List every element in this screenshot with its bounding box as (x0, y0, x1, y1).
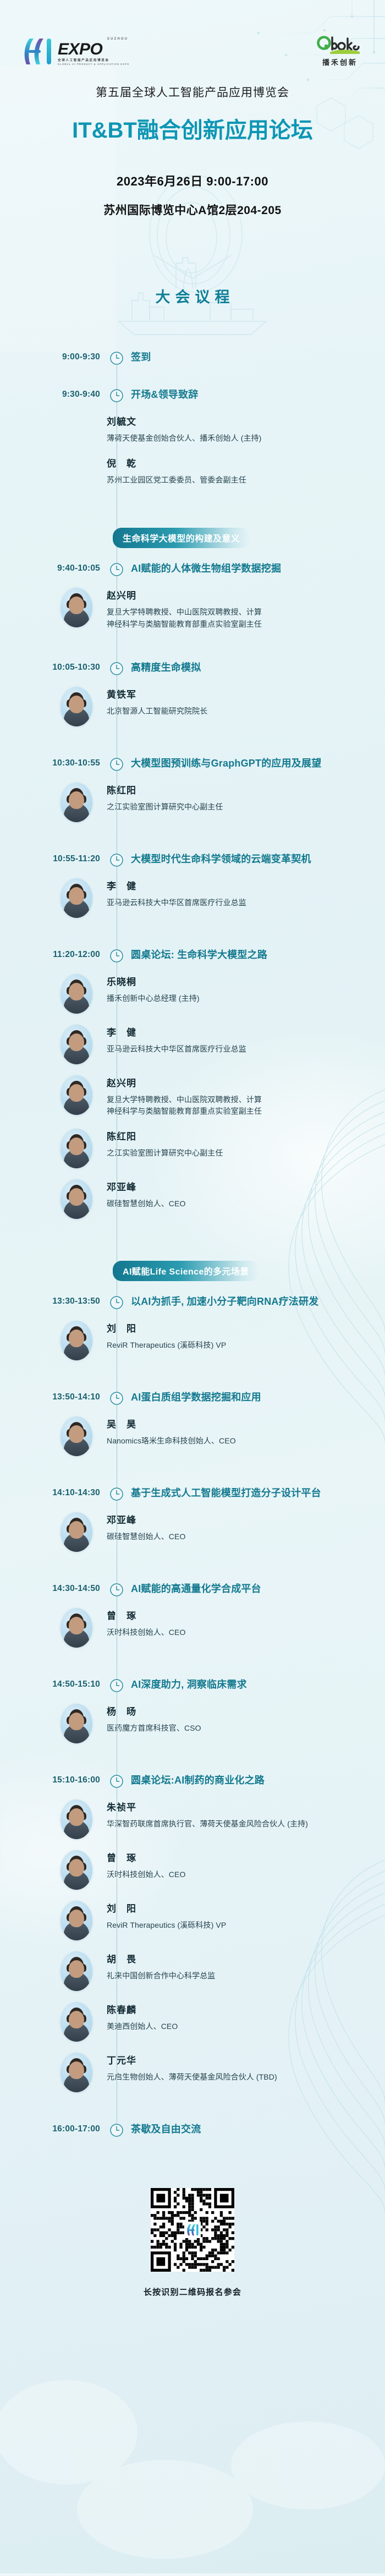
session-title: 以AI为抓手, 加速小分子靶向RNA疗法研发 (129, 1295, 385, 1308)
speaker-entry: 陈红阳之江实验室图计算研究中心副主任 (0, 1128, 385, 1168)
row-spacer (0, 726, 385, 743)
session-time: 16:00-17:00 (0, 2123, 105, 2134)
clock-icon-cell (105, 562, 129, 577)
speaker-entry: 刘 阳ReviR Therapeutics (溪砾科技) VP (0, 1900, 385, 1940)
speaker-photo-cell (0, 587, 105, 627)
session-title: 高精度生命模拟 (129, 661, 385, 674)
avatar (61, 1901, 92, 1940)
poster-header: SUZHOU EXPO 全球人工智能产品应用博览会 GLOBAL AI PROD… (0, 0, 385, 218)
speaker-title: 碳硅智慧创始人、CEO (107, 1531, 373, 1543)
speaker-photo-cell (0, 1128, 105, 1168)
speaker-title: 美迪西创始人、CEO (107, 2021, 373, 2033)
speaker-title: ReviR Therapeutics (溪砾科技) VP (107, 1339, 373, 1352)
speaker-name: 倪 乾 (107, 456, 373, 469)
speaker-entry: 赵兴明复旦大学特聘教授、中山医院双聘教授、计算 神经科学与类脑智能教育部重点实验… (0, 587, 385, 630)
speaker-title: ReviR Therapeutics (溪砾科技) VP (107, 1919, 373, 1932)
row-spacer (0, 822, 385, 839)
speaker-body: 邓亚峰碳硅智慧创始人、CEO (105, 1178, 385, 1210)
agenda-session-row: 15:10-16:00圆桌论坛:AI制药的商业化之路 (0, 1774, 385, 1789)
row-spacer (0, 1360, 385, 1377)
clock-icon-cell (105, 351, 129, 365)
event-venue: 苏州国际博览中心A馆2层204-205 (0, 201, 385, 218)
speaker-photo-cell (0, 413, 105, 414)
clock-icon-cell (105, 1678, 129, 1693)
row-spacer (0, 1648, 385, 1664)
session-title: 开场&领导致辞 (129, 389, 385, 401)
speaker-name: 乐晓桐 (107, 974, 373, 988)
avatar (61, 1704, 92, 1743)
qr-caption: 长按识别二维码报名参会 (0, 2286, 385, 2298)
speaker-photo-cell (0, 1511, 105, 1552)
expo-name: 第五届全球人工智能产品应用博览会 (0, 84, 385, 100)
clock-icon-cell (105, 1583, 129, 1597)
session-time: 9:40-10:05 (0, 562, 105, 573)
speaker-body: 邓亚峰碳硅智慧创始人、CEO (105, 1511, 385, 1543)
speaker-title: 之江实验室图计算研究中心副主任 (107, 801, 373, 813)
session-title: AI深度助力, 洞察临床需求 (129, 1678, 385, 1691)
session-time: 9:30-9:40 (0, 389, 105, 400)
speaker-photo-cell (0, 1074, 105, 1115)
speaker-entry: 刘毓文薄荷天使基金创始合伙人、播禾创始人 (主持) (0, 413, 385, 445)
qdock-mark-icon (317, 35, 363, 54)
speaker-name: 朱祯平 (107, 1800, 373, 1813)
agenda-section-header: AI赋能Life Science的多元场景 (0, 1261, 385, 1281)
agenda-session-row: 14:10-14:30基于生成式人工智能模型打造分子设计平台 (0, 1487, 385, 1501)
speaker-title: 播禾创新中心总经理 (主持) (107, 993, 373, 1005)
speaker-photo-cell (0, 1900, 105, 1940)
row-spacer (0, 918, 385, 934)
speaker-title: 沃时科技创始人、CEO (107, 1627, 373, 1639)
speaker-entry: 黄铁军北京智源人工智能研究院院长 (0, 686, 385, 726)
speaker-name: 邓亚峰 (107, 1179, 373, 1193)
avatar (61, 687, 92, 726)
logo-expo-text: EXPO (58, 41, 129, 58)
session-time: 15:10-16:00 (0, 1774, 105, 1785)
qr-code[interactable] (151, 2188, 234, 2272)
speaker-title: 元启生物创始人、薄荷天使基金风险合伙人 (TBD) (107, 2071, 373, 2083)
speaker-title: 复旦大学特聘教授、中山医院双聘教授、计算 神经科学与类脑智能教育部重点实验室副主… (107, 606, 373, 630)
speaker-entry: 赵兴明复旦大学特聘教授、中山医院双聘教授、计算 神经科学与类脑智能教育部重点实验… (0, 1074, 385, 1118)
speaker-name: 陈红阳 (107, 783, 373, 796)
session-title: AI赋能的人体微生物组学数据挖掘 (129, 562, 385, 575)
agenda-session-row: 10:55-11:20大模型时代生命科学领域的云端变革契机 (0, 853, 385, 867)
speaker-photo-cell (0, 1320, 105, 1360)
session-time: 14:10-14:30 (0, 1487, 105, 1498)
speaker-body: 赵兴明复旦大学特聘教授、中山医院双聘教授、计算 神经科学与类脑智能教育部重点实验… (105, 587, 385, 630)
session-title: 大模型图预训练与GraphGPT的应用及展望 (129, 757, 385, 770)
speaker-name: 邓亚峰 (107, 1512, 373, 1526)
logo-row: SUZHOU EXPO 全球人工智能产品应用博览会 GLOBAL AI PROD… (0, 35, 385, 67)
row-spacer (0, 486, 385, 502)
avatar (61, 1025, 92, 1064)
speaker-body: 陈红阳之江实验室图计算研究中心副主任 (105, 781, 385, 813)
agenda-session-row: 9:30-9:40开场&领导致辞 (0, 389, 385, 403)
agenda-session-row: 14:30-14:50AI赋能的高通量化学合成平台 (0, 1583, 385, 1597)
session-title: 大模型时代生命科学领域的云端变革契机 (129, 853, 385, 866)
agenda-section-header: 生命科学大模型的构建及意义 (0, 528, 385, 548)
clock-icon-cell (105, 1295, 129, 1310)
agenda-session-row: 13:30-13:50以AI为抓手, 加速小分子靶向RNA疗法研发 (0, 1295, 385, 1310)
speaker-title: 苏州工业园区党工委委员、管委会副主任 (107, 474, 373, 486)
speaker-name: 李 健 (107, 1025, 373, 1038)
speaker-entry: 胡 畏礼来中国创新合作中心科学总监 (0, 1950, 385, 1991)
speaker-entry: 李 健亚马逊云科技大中华区首席医疗行业总监 (0, 877, 385, 918)
clock-icon (109, 1774, 124, 1789)
speaker-photo-cell (0, 1024, 105, 1064)
speaker-photo-cell (0, 1703, 105, 1743)
speaker-photo-cell (0, 1798, 105, 1839)
agenda-session-row: 9:00-9:30签到 (0, 351, 385, 365)
session-time: 14:50-15:10 (0, 1678, 105, 1689)
speaker-title: 医药魔方首席科技官、CSO (107, 1722, 373, 1735)
avatar (61, 1129, 92, 1168)
speaker-photo-cell (0, 1178, 105, 1219)
row-spacer (0, 2137, 385, 2146)
speaker-body: 黄铁军北京智源人工智能研究院院长 (105, 686, 385, 718)
speaker-title: 碳硅智慧创始人、CEO (107, 1198, 373, 1210)
speaker-body: 曾 琢沃时科技创始人、CEO (105, 1607, 385, 1639)
session-title: AI赋能的高通量化学合成平台 (129, 1583, 385, 1595)
speaker-body: 陈红阳之江实验室图计算研究中心副主任 (105, 1128, 385, 1160)
clock-icon-cell (105, 949, 129, 963)
clock-icon (109, 351, 124, 365)
speaker-body: 丁元华元启生物创始人、薄荷天使基金风险合伙人 (TBD) (105, 2052, 385, 2083)
avatar (61, 783, 92, 822)
speaker-name: 黄铁军 (107, 687, 373, 701)
avatar (61, 1951, 92, 1991)
speaker-body: 李 健亚马逊云科技大中华区首席医疗行业总监 (105, 877, 385, 909)
speaker-photo-cell (0, 1950, 105, 1991)
agenda-session-row: 10:30-10:55大模型图预训练与GraphGPT的应用及展望 (0, 757, 385, 772)
speaker-body: 李 健亚马逊云科技大中华区首席医疗行业总监 (105, 1024, 385, 1055)
speaker-entry: 刘 阳ReviR Therapeutics (溪砾科技) VP (0, 1320, 385, 1360)
speaker-title: 亚马逊云科技大中华区首席医疗行业总监 (107, 1043, 373, 1055)
speaker-name: 李 健 (107, 878, 373, 892)
agenda-session-row: 11:20-12:00圆桌论坛: 生命科学大模型之路 (0, 949, 385, 963)
logo-subtitle-cn: 全球人工智能产品应用博览会 (58, 59, 129, 63)
speaker-body: 赵兴明复旦大学特聘教授、中山医院双聘教授、计算 神经科学与类脑智能教育部重点实验… (105, 1074, 385, 1118)
agenda-banner: 大会议程 (0, 254, 385, 337)
avatar (61, 1850, 92, 1890)
session-time: 13:30-13:50 (0, 1295, 105, 1306)
page-title: IT&BT融合创新应用论坛 (0, 112, 385, 144)
speaker-photo-cell (0, 2052, 105, 2092)
speaker-entry: 丁元华元启生物创始人、薄荷天使基金风险合伙人 (TBD) (0, 2052, 385, 2092)
speaker-name: 曾 琢 (107, 1850, 373, 1864)
speaker-entry: 杨 旸医药魔方首席科技官、CSO (0, 1703, 385, 1743)
speaker-name: 曾 琢 (107, 1608, 373, 1622)
avatar (61, 588, 92, 627)
clock-icon-cell (105, 757, 129, 772)
speaker-entry: 李 健亚马逊云科技大中华区首席医疗行业总监 (0, 1024, 385, 1064)
qdock-logo: 播禾创新 (317, 35, 363, 67)
clock-icon (109, 1295, 124, 1310)
speaker-entry: 倪 乾苏州工业园区党工委委员、管委会副主任 (0, 455, 385, 486)
speaker-photo-cell (0, 1849, 105, 1890)
avatar (61, 878, 92, 918)
clock-icon (109, 661, 124, 676)
speaker-photo-cell (0, 781, 105, 822)
clock-icon (109, 1583, 124, 1597)
speaker-entry: 邓亚峰碳硅智慧创始人、CEO (0, 1511, 385, 1552)
agenda-banner-label: 大会议程 (151, 285, 235, 307)
clock-icon-cell (105, 1487, 129, 1501)
speaker-name: 赵兴明 (107, 588, 373, 601)
event-datetime: 2023年6月26日 9:00-17:00 (0, 172, 385, 189)
section-chip: AI赋能Life Science的多元场景 (113, 1261, 259, 1281)
avatar (61, 1608, 92, 1648)
speaker-photo-cell (0, 973, 105, 1014)
timeline-rail (117, 365, 117, 2123)
speaker-name: 刘 阳 (107, 1321, 373, 1335)
clock-icon-cell (105, 2123, 129, 2137)
avatar (61, 2002, 92, 2042)
row-spacer (0, 2092, 385, 2109)
row-spacer (0, 631, 385, 647)
avatar (61, 1075, 92, 1115)
clock-icon (109, 949, 124, 963)
agenda-session-row: 9:40-10:05AI赋能的人体微生物组学数据挖掘 (0, 562, 385, 577)
session-time: 9:00-9:30 (0, 351, 105, 362)
speaker-name: 刘 阳 (107, 1901, 373, 1915)
agenda-session-row: 16:00-17:00茶歇及自由交流 (0, 2123, 385, 2137)
avatar (61, 1179, 92, 1219)
clock-icon (109, 1678, 124, 1693)
clock-icon-cell (105, 661, 129, 676)
speaker-body: 杨 旸医药魔方首席科技官、CSO (105, 1703, 385, 1735)
poster-footer: 长按识别二维码报名参会 (0, 2168, 385, 2328)
agenda-session-row: 10:05-10:30高精度生命模拟 (0, 661, 385, 676)
speaker-body: 刘 阳ReviR Therapeutics (溪砾科技) VP (105, 1900, 385, 1932)
clock-icon (109, 562, 124, 577)
speaker-entry: 邓亚峰碳硅智慧创始人、CEO (0, 1178, 385, 1219)
avatar (61, 1800, 92, 1839)
clock-icon-cell (105, 1391, 129, 1405)
speaker-photo-cell (0, 1415, 105, 1456)
speaker-title: 复旦大学特聘教授、中山医院双聘教授、计算 神经科学与类脑智能教育部重点实验室副主… (107, 1094, 373, 1118)
session-time: 13:50-14:10 (0, 1391, 105, 1402)
agenda-timeline: 9:00-9:30签到9:30-9:40开场&领导致辞刘毓文薄荷天使基金创始合伙… (0, 351, 385, 2168)
speaker-body: 刘 阳ReviR Therapeutics (溪砾科技) VP (105, 1320, 385, 1352)
speaker-title: 北京智源人工智能研究院院长 (107, 705, 373, 718)
speaker-name: 陈春麟 (107, 2002, 373, 2016)
ai-mark-icon (22, 37, 54, 65)
speaker-photo-cell (0, 686, 105, 726)
clock-icon-cell (105, 853, 129, 867)
row-spacer (0, 365, 385, 374)
speaker-title: 之江实验室图计算研究中心副主任 (107, 1147, 373, 1160)
avatar (61, 1321, 92, 1360)
row-spacer (0, 1743, 385, 1760)
avatar (61, 974, 92, 1014)
speaker-entry: 陈春麟美迪西创始人、CEO (0, 2001, 385, 2042)
speaker-name: 陈红阳 (107, 1129, 373, 1142)
speaker-body: 倪 乾苏州工业园区党工委委员、管委会副主任 (105, 455, 385, 486)
session-title: 签到 (129, 351, 385, 364)
speaker-body: 陈春麟美迪西创始人、CEO (105, 2001, 385, 2033)
session-time: 10:05-10:30 (0, 661, 105, 672)
speaker-entry: 朱祯平华深智药联席首席执行官、薄荷天使基金风险合伙人 (主持) (0, 1798, 385, 1839)
clock-icon (109, 1391, 124, 1405)
speaker-body: 朱祯平华深智药联席首席执行官、薄荷天使基金风险合伙人 (主持) (105, 1798, 385, 1830)
speaker-photo-cell (0, 2001, 105, 2042)
clock-icon-cell (105, 1774, 129, 1789)
speaker-title: 华深智药联席首席执行官、薄荷天使基金风险合伙人 (主持) (107, 1818, 373, 1830)
agenda-session-row: 14:50-15:10AI深度助力, 洞察临床需求 (0, 1678, 385, 1693)
session-title: 圆桌论坛: 生命科学大模型之路 (129, 949, 385, 961)
speaker-name: 赵兴明 (107, 1075, 373, 1089)
logo-subtitle-en: GLOBAL AI PRODUCT & APPLICATION EXPO (58, 63, 129, 65)
session-title: 茶歇及自由交流 (129, 2123, 385, 2136)
row-spacer (0, 1552, 385, 1568)
clock-icon (109, 757, 124, 772)
avatar (61, 1416, 92, 1456)
session-time: 11:20-12:00 (0, 949, 105, 960)
ai-expo-logo: SUZHOU EXPO 全球人工智能产品应用博览会 GLOBAL AI PROD… (22, 37, 129, 65)
clock-icon (109, 1487, 124, 1501)
speaker-entry: 乐晓桐播禾创新中心总经理 (主持) (0, 973, 385, 1014)
clock-icon (109, 389, 124, 403)
speaker-entry: 吴 昊Nanomics珞米生命科技创始人、CEO (0, 1415, 385, 1456)
agenda-session-row: 13:50-14:10AI蛋白质组学数据挖掘和应用 (0, 1391, 385, 1405)
session-title: 基于生成式人工智能模型打造分子设计平台 (129, 1487, 385, 1500)
avatar (61, 2053, 92, 2092)
clock-icon (109, 853, 124, 867)
speaker-name: 吴 昊 (107, 1416, 373, 1430)
speaker-entry: 曾 琢沃时科技创始人、CEO (0, 1607, 385, 1648)
speaker-name: 杨 旸 (107, 1704, 373, 1718)
speaker-title: 沃时科技创始人、CEO (107, 1869, 373, 1881)
speaker-body: 吴 昊Nanomics珞米生命科技创始人、CEO (105, 1415, 385, 1447)
clock-icon-cell (105, 389, 129, 403)
session-time: 10:55-11:20 (0, 853, 105, 864)
speaker-body: 刘毓文薄荷天使基金创始合伙人、播禾创始人 (主持) (105, 413, 385, 445)
speaker-title: 礼来中国创新合作中心科学总监 (107, 1970, 373, 1982)
avatar (61, 1512, 92, 1552)
speaker-title: 薄荷天使基金创始合伙人、播禾创始人 (主持) (107, 433, 373, 445)
speaker-entry: 陈红阳之江实验室图计算研究中心副主任 (0, 781, 385, 822)
session-time: 10:30-10:55 (0, 757, 105, 768)
qdock-logo-cn: 播禾创新 (317, 57, 363, 67)
clock-icon (109, 2123, 124, 2137)
row-spacer (0, 1219, 385, 1235)
speaker-body: 乐晓桐播禾创新中心总经理 (主持) (105, 973, 385, 1005)
qr-center-logo (184, 2222, 201, 2238)
speaker-title: 亚马逊云科技大中华区首席医疗行业总监 (107, 897, 373, 909)
row-spacer (0, 1456, 385, 1473)
session-time: 14:30-14:50 (0, 1583, 105, 1594)
ai-logo-icon (186, 2224, 199, 2236)
session-title: AI蛋白质组学数据挖掘和应用 (129, 1391, 385, 1404)
speaker-photo-cell (0, 455, 105, 456)
speaker-body: 曾 琢沃时科技创始人、CEO (105, 1849, 385, 1881)
speaker-body: 胡 畏礼来中国创新合作中心科学总监 (105, 1950, 385, 1982)
speaker-name: 刘毓文 (107, 414, 373, 428)
speaker-photo-cell (0, 877, 105, 918)
session-title: 圆桌论坛:AI制药的商业化之路 (129, 1774, 385, 1787)
speaker-name: 丁元华 (107, 2053, 373, 2066)
speaker-title: Nanomics珞米生命科技创始人、CEO (107, 1435, 373, 1447)
speaker-photo-cell (0, 1607, 105, 1648)
speaker-entry: 曾 琢沃时科技创始人、CEO (0, 1849, 385, 1890)
speaker-name: 胡 畏 (107, 1951, 373, 1965)
section-chip: 生命科学大模型的构建及意义 (113, 528, 250, 548)
